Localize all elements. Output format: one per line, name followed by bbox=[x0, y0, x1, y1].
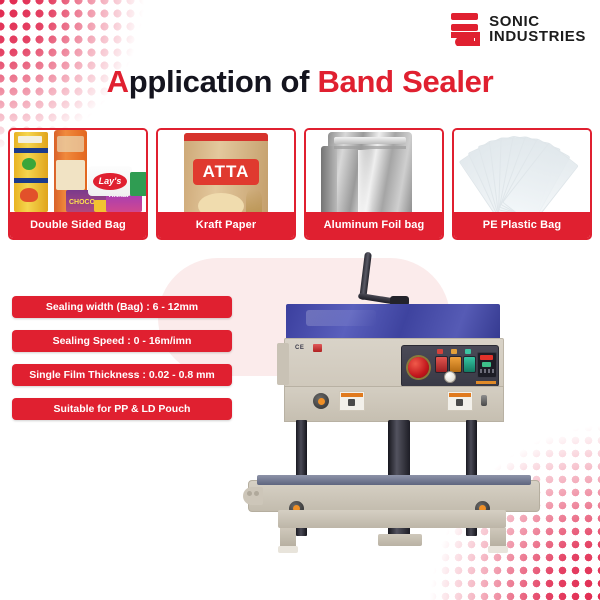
lays-chips-pack-icon: Lay's bbox=[88, 166, 132, 196]
card-caption: Double Sided Bag bbox=[10, 212, 146, 238]
emergency-stop-button[interactable] bbox=[408, 357, 429, 378]
application-card[interactable]: CHOCO Kitkat Lay's Double Sided Bag bbox=[8, 128, 148, 240]
fanned-plastic-bags-illustration bbox=[454, 130, 590, 212]
infographic-canvas: SONIC INDUSTRIES Application of Band Sea… bbox=[0, 0, 600, 600]
temperature-display bbox=[477, 352, 497, 378]
title-part-1: A bbox=[107, 64, 129, 99]
application-card[interactable]: PE Plastic Bag bbox=[452, 128, 592, 240]
center-post-base bbox=[378, 534, 422, 546]
card-image-double-sided-bag: CHOCO Kitkat Lay's bbox=[10, 130, 146, 212]
card-image-pe-plastic-bag bbox=[454, 130, 590, 212]
spec-pill: Sealing Speed : 0 - 16m/imn bbox=[12, 330, 232, 352]
head-side-panel bbox=[277, 343, 289, 385]
bolt-icon bbox=[481, 395, 487, 406]
card-caption: Kraft Paper bbox=[158, 212, 294, 238]
application-cards: CHOCO Kitkat Lay's Double Sided Bag ATTA… bbox=[8, 128, 592, 240]
conveyor-belt bbox=[257, 475, 531, 485]
spec-pill: Single Film Thickness : 0.02 - 0.8 mm bbox=[12, 364, 232, 386]
machine-hood bbox=[286, 304, 500, 340]
application-card[interactable]: Aluminum Foil bag bbox=[304, 128, 444, 240]
card-caption: PE Plastic Bag bbox=[454, 212, 590, 238]
brand-logo: SONIC INDUSTRIES bbox=[450, 12, 586, 46]
conveyor-frame bbox=[248, 480, 540, 512]
specification-list: Sealing width (Bag) : 6 - 12mm Sealing S… bbox=[12, 296, 232, 432]
title-part-2: pplication of bbox=[129, 64, 309, 99]
machine-leg-left bbox=[280, 528, 296, 548]
conveyor-nose bbox=[243, 487, 263, 505]
warning-sticker bbox=[447, 391, 473, 411]
card-image-kraft-paper: ATTA bbox=[158, 130, 294, 212]
white-push-button[interactable] bbox=[444, 371, 456, 383]
application-card[interactable]: ATTA Kraft Paper bbox=[156, 128, 296, 240]
display-buttons[interactable] bbox=[480, 369, 494, 373]
brand-name-line1: SONIC bbox=[489, 14, 586, 29]
red-switch-button[interactable] bbox=[435, 356, 448, 373]
atta-label: ATTA bbox=[193, 159, 259, 185]
machine-head-housing: CE bbox=[284, 338, 504, 390]
orange-indicator-led-icon bbox=[451, 349, 457, 354]
red-indicator-led-icon bbox=[437, 349, 443, 354]
display-label-strip bbox=[476, 381, 496, 384]
warning-sticker bbox=[339, 391, 365, 411]
adjustment-knob[interactable] bbox=[313, 393, 329, 409]
machine-base-beam bbox=[278, 510, 506, 528]
green-pack-icon bbox=[130, 172, 146, 196]
machine-lower-housing bbox=[284, 386, 504, 422]
machine-leg-right bbox=[490, 528, 506, 548]
machine-foot-left bbox=[278, 546, 298, 553]
sonic-s-mark-icon bbox=[450, 12, 480, 46]
green-indicator-led-icon bbox=[465, 349, 471, 354]
spec-pill: Sealing width (Bag) : 6 - 12mm bbox=[12, 296, 232, 318]
brand-name-line2: INDUSTRIES bbox=[489, 29, 586, 44]
page-title: Application of Band Sealer bbox=[0, 64, 600, 100]
card-image-aluminum-foil-bag bbox=[306, 130, 442, 212]
snack-packets-illustration: CHOCO Kitkat Lay's bbox=[10, 130, 146, 212]
red-sticker-icon bbox=[313, 344, 322, 352]
display-setpoint-bar bbox=[482, 362, 491, 367]
spec-pill: Suitable for PP & LD Pouch bbox=[12, 398, 232, 420]
yellow-can-icon bbox=[14, 132, 48, 212]
band-sealer-machine-illustration: CE bbox=[240, 252, 550, 570]
display-digits bbox=[480, 355, 493, 360]
control-panel[interactable] bbox=[401, 345, 499, 387]
machine-foot-right bbox=[488, 546, 508, 553]
green-switch-button[interactable] bbox=[463, 356, 476, 373]
card-caption: Aluminum Foil bag bbox=[306, 212, 442, 238]
atta-kraft-bag-illustration: ATTA bbox=[184, 133, 268, 212]
foil-pouch-illustration bbox=[328, 132, 412, 212]
ce-mark: CE bbox=[295, 345, 304, 351]
title-part-3: Band Sealer bbox=[317, 64, 493, 99]
